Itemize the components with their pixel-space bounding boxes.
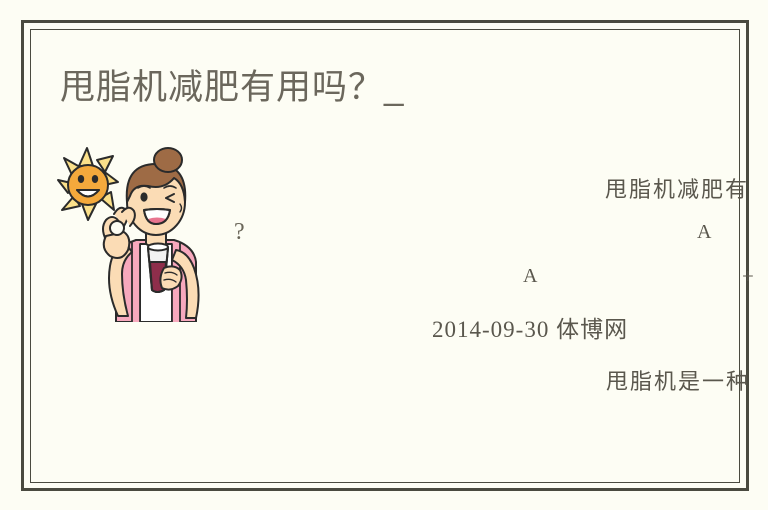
article-headline-clipped: 甩脂机减肥有 <box>605 172 749 204</box>
sun-icon <box>58 148 118 220</box>
letter-a-mid: A <box>523 265 537 288</box>
illustration-woman-with-drink-and-sun <box>56 140 226 322</box>
question-mark-glyph: ? <box>234 219 245 246</box>
article-body-clipped: 甩脂机是一种 <box>606 364 750 396</box>
plus-symbol: + <box>742 264 754 289</box>
date-and-source: 2014-09-30 体博网 <box>432 310 628 344</box>
letter-a-top: A <box>697 221 711 244</box>
screenshot-canvas: 甩脂机减肥有用吗？_ <box>0 0 768 510</box>
page-title: 甩脂机减肥有用吗？_ <box>60 66 404 110</box>
woman-figure <box>103 148 199 322</box>
